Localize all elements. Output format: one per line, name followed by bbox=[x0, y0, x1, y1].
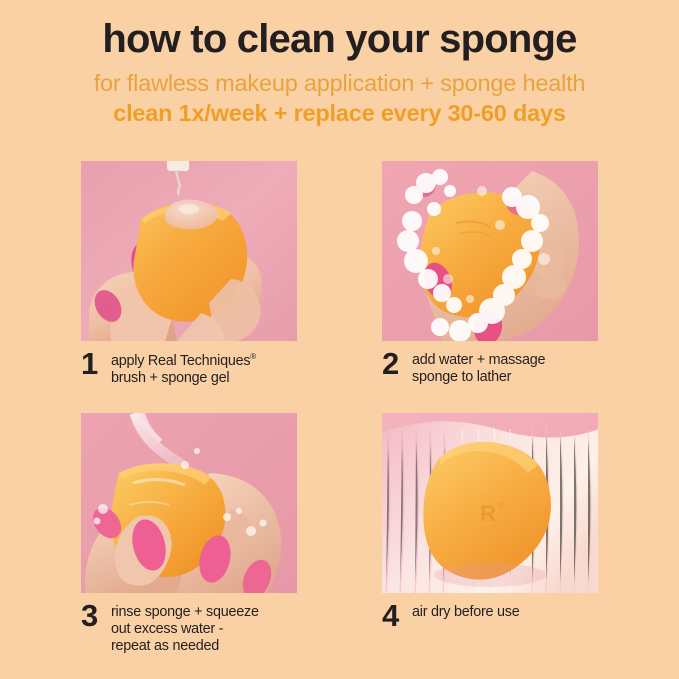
step-caption-2: 2 add water + massage sponge to lather bbox=[382, 350, 679, 386]
step-text-4: air dry before use bbox=[412, 602, 519, 621]
step-text-3-line-2: out excess water - bbox=[111, 621, 223, 637]
photo-lathering-sponge bbox=[382, 161, 598, 341]
step-number-2: 2 bbox=[382, 350, 412, 379]
step-card-1: 1 apply Real Techniques® brush + sponge … bbox=[81, 161, 382, 387]
step-text-4-line-1: air dry before use bbox=[412, 604, 519, 620]
step-caption-1: 1 apply Real Techniques® brush + sponge … bbox=[81, 350, 382, 387]
step-caption-3: 3 rinse sponge + squeeze out excess wate… bbox=[81, 602, 382, 655]
subtitle-line-2: clean 1x/week + replace every 30-60 days bbox=[0, 100, 679, 127]
step-caption-4: 4 air dry before use bbox=[382, 602, 679, 631]
svg-text:R: R bbox=[480, 501, 496, 526]
photo-sponge-air-drying: R ® bbox=[382, 413, 598, 593]
step-card-4: R ® 4 air dry before use bbox=[382, 413, 679, 631]
infographic-header: how to clean your sponge for flawless ma… bbox=[0, 0, 679, 127]
step-text-2-line-1: add water + massage bbox=[412, 352, 545, 368]
step-number-3: 3 bbox=[81, 602, 111, 631]
step-card-2: 2 add water + massage sponge to lather bbox=[382, 161, 679, 386]
step-card-3: 3 rinse sponge + squeeze out excess wate… bbox=[81, 413, 382, 655]
steps-grid: 1 apply Real Techniques® brush + sponge … bbox=[0, 155, 679, 675]
page-title: how to clean your sponge bbox=[0, 18, 679, 61]
step-text-1-line-2: brush + sponge gel bbox=[111, 370, 229, 386]
svg-text:®: ® bbox=[498, 501, 506, 512]
photo-rinsing-sponge bbox=[81, 413, 297, 593]
step-text-2-line-2: sponge to lather bbox=[412, 369, 511, 385]
step-text-3-line-1: rinse sponge + squeeze bbox=[111, 604, 259, 620]
step-text-1: apply Real Techniques® brush + sponge ge… bbox=[111, 350, 256, 387]
step-text-3: rinse sponge + squeeze out excess water … bbox=[111, 602, 259, 655]
step-number-1: 1 bbox=[81, 350, 111, 379]
step-text-3-line-3: repeat as needed bbox=[111, 638, 219, 654]
step-text-2: add water + massage sponge to lather bbox=[412, 350, 545, 386]
registered-trademark-icon: ® bbox=[250, 352, 256, 361]
photo-gel-dispensed-on-sponge bbox=[81, 161, 297, 341]
step-text-1-line-1: apply Real Techniques bbox=[111, 353, 250, 369]
step-number-4: 4 bbox=[382, 602, 412, 631]
subtitle-line-1: for flawless makeup application + sponge… bbox=[0, 70, 679, 97]
